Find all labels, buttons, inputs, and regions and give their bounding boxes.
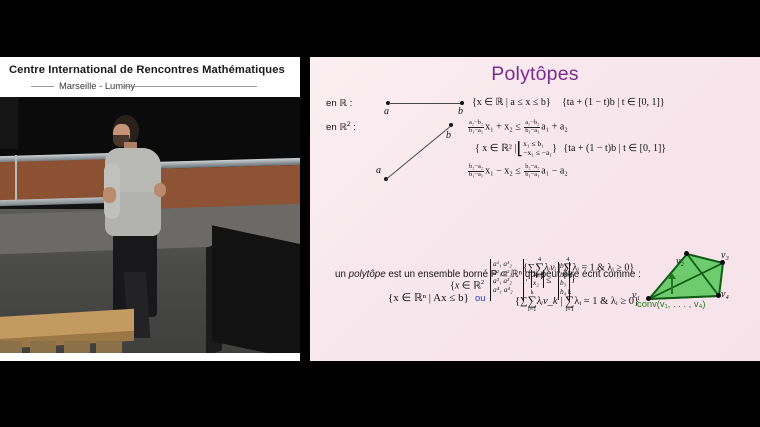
def-sum-limits-1: k∑i=1 [528, 290, 537, 313]
lecture-video-frame[interactable] [0, 97, 300, 353]
convex-form-R2: {ta + (1 − t)b | t ∈ [0, 1]} [563, 143, 666, 154]
cirm-header: Centre International de Rencontres Mathé… [0, 57, 300, 97]
upward-arrow-head [668, 273, 676, 279]
point-a-label-R2: a [376, 165, 381, 176]
matrix-bar-open [490, 259, 491, 301]
upward-arrow-shaft [671, 279, 673, 294]
set-form-R2: { x ∈ ℝ² |⌊ x₁ ≤ b₁ −x₁ ≤ −a₁ } {ta + (1… [475, 140, 666, 157]
blackboard-left-panel [0, 97, 18, 149]
speaker-hand-right [154, 183, 166, 197]
video-caption-bar: CIRM Posets, polynômes, et polytopes - p… [0, 353, 300, 361]
video-panel[interactable]: Centre International de Rencontres Mathé… [0, 57, 300, 361]
def-sum-limits-2: k∑i=1 [565, 290, 574, 313]
convex-form-R: {ta + (1 − t)b | t ∈ [0, 1]} [562, 97, 665, 108]
label-en-R: en ℝ : [326, 98, 352, 109]
header-rule-right [122, 86, 257, 87]
cork-panel-seam [15, 155, 17, 200]
chair-1 [0, 341, 22, 353]
definition-convex-form: {∑k∑i=1λᵢv_k | k∑i=1λᵢ = 1 & λᵢ ≥ 0} [515, 290, 639, 313]
definition-connector: ou [475, 292, 485, 303]
halfspace-prefix: {x ∈ ℝ2 [450, 279, 484, 291]
frac-top-right: a₂−b₂ b₁−a₁ [524, 120, 540, 134]
frac-bot-left: b₂−a₂ b₁−a₁ [468, 164, 484, 178]
speaker-hand-left [103, 187, 116, 203]
inequality-stack: x₁ ≤ b₁ −x₁ ≤ −a₁ [523, 140, 552, 157]
chair-4 [96, 341, 122, 353]
inequality-bottom-R2: b₂−a₂ b₁−a₁ x₁ − x₂ ≤ b₂−a₂ b₁−a₁ a₁ − a… [467, 164, 568, 178]
polytope-vertex-v1 [646, 296, 651, 301]
matrix-row-4: a⁴₁ a⁴₂ [493, 286, 513, 295]
frac-top-left: a₂−b₂ b₁−a₁ [468, 120, 484, 134]
label-en-R2: en ℝ2 : [326, 121, 356, 133]
polytope-vertex-v4 [716, 293, 721, 298]
inequality-top-R2: a₂−b₂ b₁−a₁ x₁ + x₂ ≤ a₂−b₂ b₁−a₁ a₁ + a… [467, 120, 568, 134]
frac-bot-right: b₂−a₂ b₁−a₁ [524, 164, 540, 178]
polytope-vertex-v3 [720, 260, 725, 265]
header-rule-left [31, 86, 54, 87]
slide-title: Polytôpes [310, 63, 760, 86]
definition-emphasis: polytôpe [349, 269, 386, 280]
desk [212, 225, 300, 353]
definition-text: un polytôpe est un ensemble borné P ⊂ ℝⁿ… [335, 269, 641, 280]
set-form-R: {x ∈ ℝ | a ≤ x ≤ b} [472, 97, 551, 108]
institution-name: Centre International de Rencontres Mathé… [9, 64, 285, 76]
point-a-label-R: a [384, 106, 389, 117]
definition-halfspace-form: {x ∈ ℝⁿ | Ax ≤ b} [388, 291, 469, 304]
segment-ab-R [389, 103, 461, 104]
screenshot-root: Centre International de Rencontres Mathé… [0, 0, 760, 427]
chair-2 [30, 341, 56, 353]
point-b-label-R: b [458, 106, 463, 117]
point-b-label-R2: b [446, 130, 451, 141]
polytope-vertex-v2 [684, 251, 689, 256]
polytope-label-v4: v₄ [721, 289, 729, 300]
segment-ab-R2 [386, 125, 452, 180]
point-b-dot-R [460, 101, 464, 105]
presentation-slide[interactable]: Polytôpes en ℝ : a b {x ∈ ℝ | a ≤ x ≤ b}… [310, 57, 760, 361]
polytope-label-v2: v₂ [676, 256, 684, 267]
chair-3 [64, 341, 90, 353]
